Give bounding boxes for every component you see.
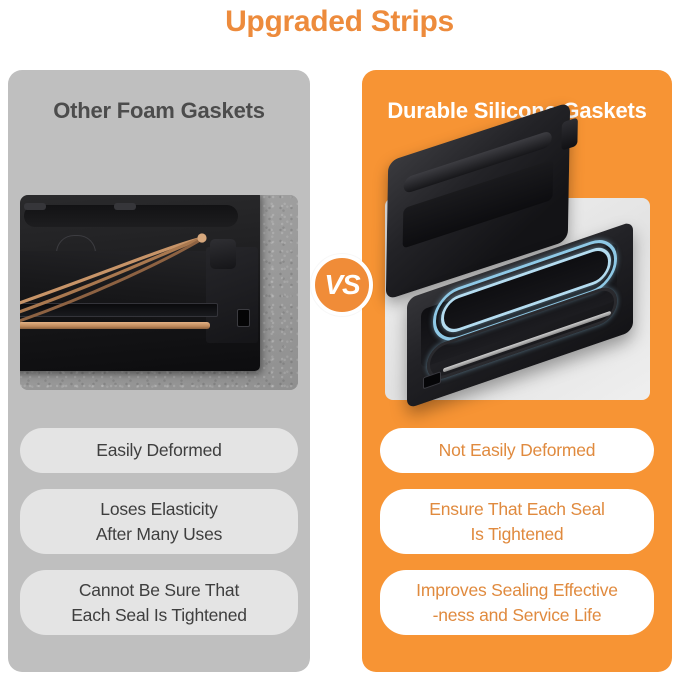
comparison-panel-other-foam: Other Foam Gaskets Easily Deformed Loses… <box>8 70 310 672</box>
feature-pill: Loses ElasticityAfter Many Uses <box>20 489 298 554</box>
panel-heading-other-foam: Other Foam Gaskets <box>8 96 310 126</box>
feature-pill: Easily Deformed <box>20 428 298 473</box>
deformed-foam-strips-illustration <box>20 195 260 371</box>
product-photo-silicone-gasket <box>385 198 650 400</box>
feature-pill: Not Easily Deformed <box>380 428 654 473</box>
comparison-panel-silicone: Durable Silicone Gaskets Not Easily Defo… <box>362 70 672 672</box>
feature-pill: Ensure That Each SealIs Tightened <box>380 489 654 554</box>
feature-pill-label: Easily Deformed <box>96 438 221 463</box>
vacuum-sealer-open-image <box>385 198 650 400</box>
feature-pill-label: Not Easily Deformed <box>439 438 596 463</box>
feature-pill: Cannot Be Sure ThatEach Seal Is Tightene… <box>20 570 298 635</box>
feature-pill-label: Ensure That Each SealIs Tightened <box>429 497 604 547</box>
vs-badge: VS <box>311 254 373 316</box>
feature-pill-label: Cannot Be Sure ThatEach Seal Is Tightene… <box>71 578 247 628</box>
vs-badge-label: VS <box>324 269 359 301</box>
feature-pill: Improves Sealing Effective-ness and Serv… <box>380 570 654 635</box>
page-title: Upgraded Strips <box>0 2 679 42</box>
vacuum-sealer-body-image <box>20 195 260 371</box>
feature-pill-label: Loses ElasticityAfter Many Uses <box>96 497 222 547</box>
feature-pill-label: Improves Sealing Effective-ness and Serv… <box>416 578 618 628</box>
product-photo-foam-gasket <box>20 195 298 390</box>
sealer-lid-hinge <box>561 117 577 150</box>
sealer-vent-port <box>423 371 441 389</box>
